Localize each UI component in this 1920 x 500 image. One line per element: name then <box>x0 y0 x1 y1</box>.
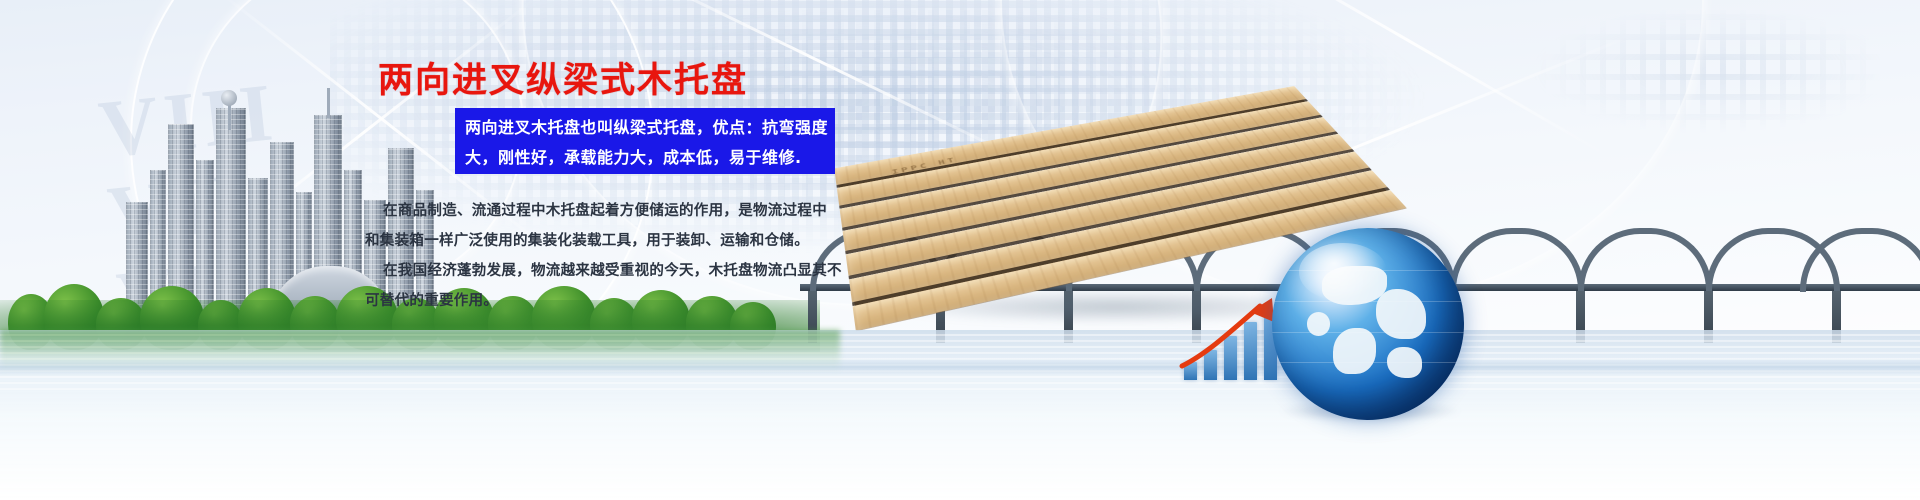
highlight-line: 两向进叉木托盘也叫纵梁式托盘，优点：抗弯强度 <box>465 113 825 143</box>
product-banner: VIII VII VI <box>0 0 1920 500</box>
description-line: 和集装箱一样广泛使用的集装化装载工具，用于装卸、运输和仓储。 <box>365 226 845 256</box>
description-paragraph: 在商品制造、流通过程中木托盘起着方便储运的作用，是物流过程中 和集装箱一样广泛使… <box>365 196 845 316</box>
page-title: 两向进叉纵梁式木托盘 <box>378 52 748 103</box>
description-line: 在商品制造、流通过程中木托盘起着方便储运的作用，是物流过程中 <box>365 196 845 226</box>
description-line: 可替代的重要作用。 <box>365 286 845 316</box>
tower-sphere-icon <box>221 90 237 106</box>
description-line: 在我国经济蓬勃发展，物流越来越受重视的今天，木托盘物流凸显其不 <box>365 256 845 286</box>
highlight-callout-box: 两向进叉木托盘也叫纵梁式托盘，优点：抗弯强度 大，刚性好，承载能力大，成本低，易… <box>455 108 835 174</box>
globe-illustration <box>1272 228 1464 420</box>
highlight-line: 大，刚性好，承载能力大，成本低，易于维修. <box>465 143 825 173</box>
pixel-mosaic-right <box>1460 10 1880 160</box>
tree-reflection <box>0 330 840 372</box>
